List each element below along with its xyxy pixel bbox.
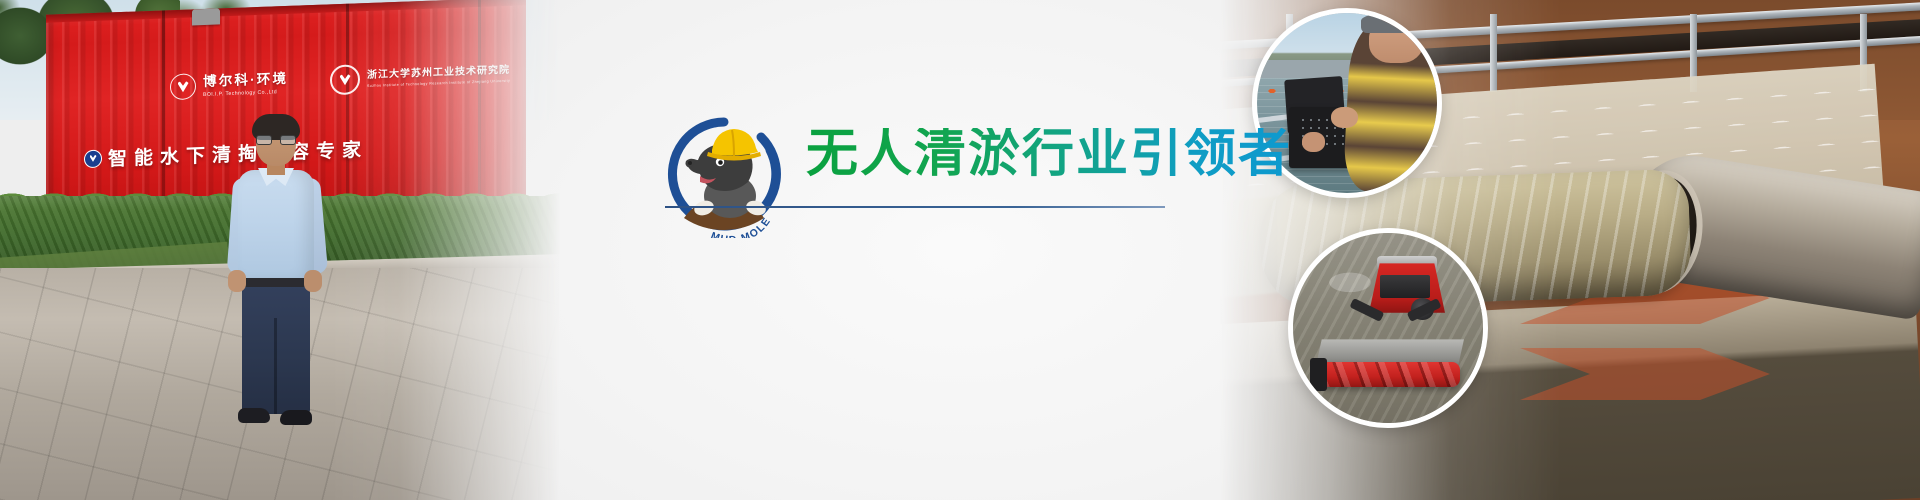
figure-glasses [255, 135, 297, 145]
op-operator-hand-left [1302, 132, 1325, 152]
engineer-container-photo: 博尔科·环境 BOI.I.P. Technology Co.,Ltd 浙江大学苏… [0, 0, 560, 500]
dr-auger-endcap [1310, 358, 1327, 390]
figure-hand-right [304, 270, 322, 292]
figure-hand-left [228, 270, 246, 292]
logo-mole-nose [688, 161, 692, 165]
zju-seal-icon [330, 64, 360, 95]
borke-mark-icon [170, 73, 196, 100]
figure-shoe-left [238, 408, 270, 423]
figure-belt [240, 278, 312, 287]
container-seam [346, 4, 349, 220]
borke-name-cn: 博尔科·环境 [203, 71, 288, 90]
page-title: 无人清淤行业引领者 [806, 128, 1292, 180]
figure-shirt [238, 170, 314, 282]
mud-mole-logo: MUD MOLE [660, 110, 788, 238]
hero-banner: 博尔科·环境 BOI.I.P. Technology Co.,Ltd 浙江大学苏… [0, 0, 1920, 500]
borke-logo-text: 博尔科·环境 BOI.I.P. Technology Co.,Ltd [203, 71, 288, 98]
figure-shoe-right [280, 410, 312, 425]
logo-mole-pupil [718, 160, 723, 165]
title-divider [665, 206, 1165, 208]
op-operator-hand-right [1331, 107, 1358, 129]
dr-machinery [1380, 275, 1429, 298]
container-vent [192, 8, 220, 25]
center-content: MUD MOLE 无人清淤行业引领者 [660, 0, 1280, 500]
mud-mole-logo-svg: MUD MOLE [660, 110, 788, 238]
photo-rail-post [1490, 14, 1497, 92]
circle-photo-dredger [1288, 228, 1488, 428]
zju-logo-text: 浙江大学苏州工业技术研究院 Suzhou Institute of Techno… [367, 65, 510, 88]
container-logo-borke: 博尔科·环境 BOI.I.P. Technology Co.,Ltd [170, 70, 288, 100]
logo-hard-hat [712, 129, 758, 156]
container-seam [478, 0, 481, 215]
engineer-figure [222, 118, 332, 418]
op-operator-cap [1361, 13, 1426, 33]
figure-leg-split [274, 318, 277, 414]
slogan-badge-icon [84, 149, 102, 168]
dr-auger-screw [1320, 362, 1461, 387]
